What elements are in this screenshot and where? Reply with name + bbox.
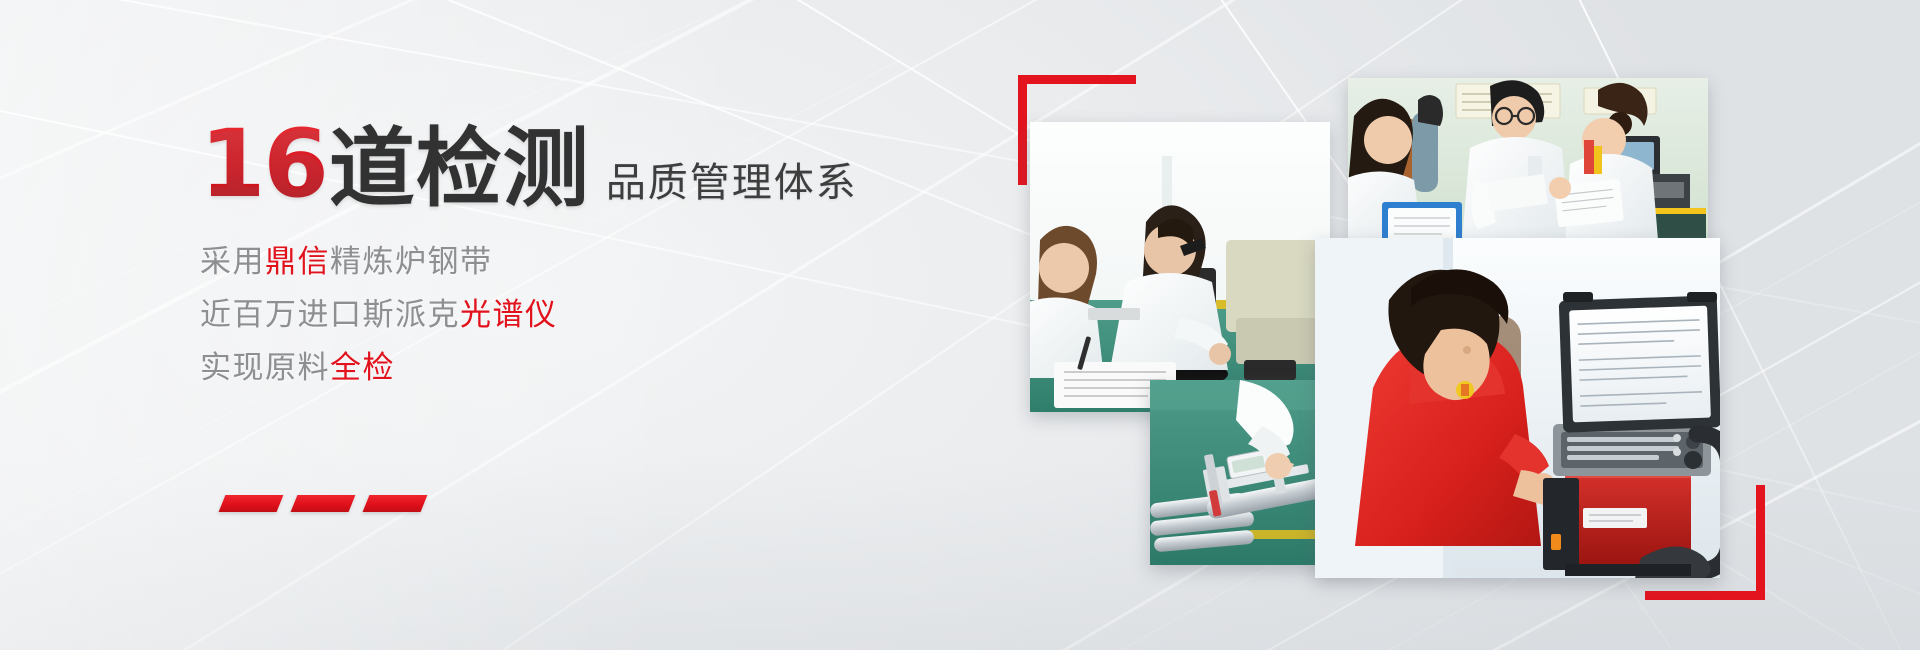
feature-line-2-before: 近百万进口斯派克 [200, 297, 460, 332]
dash-3 [363, 495, 428, 512]
photo-lab-team-review [1348, 78, 1708, 263]
dash-1 [219, 495, 284, 512]
feature-line-3: 实现原料全检 [200, 352, 980, 383]
promo-banner: 16 道检测 品质管理体系 采用鼎信精炼炉钢带 近百万进口斯派克光谱仪 实现原料… [0, 0, 1920, 650]
headline-block: 16 道检测 品质管理体系 采用鼎信精炼炉钢带 近百万进口斯派克光谱仪 实现原料… [200, 118, 980, 405]
feature-list: 采用鼎信精炼炉钢带 近百万进口斯派克光谱仪 实现原料全检 [200, 246, 980, 383]
photo-spectrometer-operation [1315, 238, 1720, 578]
feature-line-3-highlight: 全检 [330, 350, 395, 385]
feature-line-3-before: 实现原料 [200, 350, 330, 385]
feature-line-1-after: 精炼炉钢带 [330, 244, 493, 279]
headline-subtitle: 品质管理体系 [606, 163, 858, 212]
photo-collage [1000, 30, 1900, 630]
feature-line-1: 采用鼎信精炼炉钢带 [200, 246, 980, 277]
headline-main: 道检测 [329, 126, 590, 212]
headline-number: 16 [200, 118, 327, 212]
red-dash-decoration [222, 495, 424, 512]
photo-microscope-inspection [1030, 122, 1330, 412]
dash-2 [291, 495, 356, 512]
feature-line-1-before: 采用 [200, 244, 265, 279]
feature-line-2-highlight: 光谱仪 [460, 297, 558, 332]
feature-line-1-highlight: 鼎信 [265, 244, 330, 279]
page-title: 16 道检测 品质管理体系 [200, 118, 980, 212]
feature-line-2: 近百万进口斯派克光谱仪 [200, 299, 980, 330]
